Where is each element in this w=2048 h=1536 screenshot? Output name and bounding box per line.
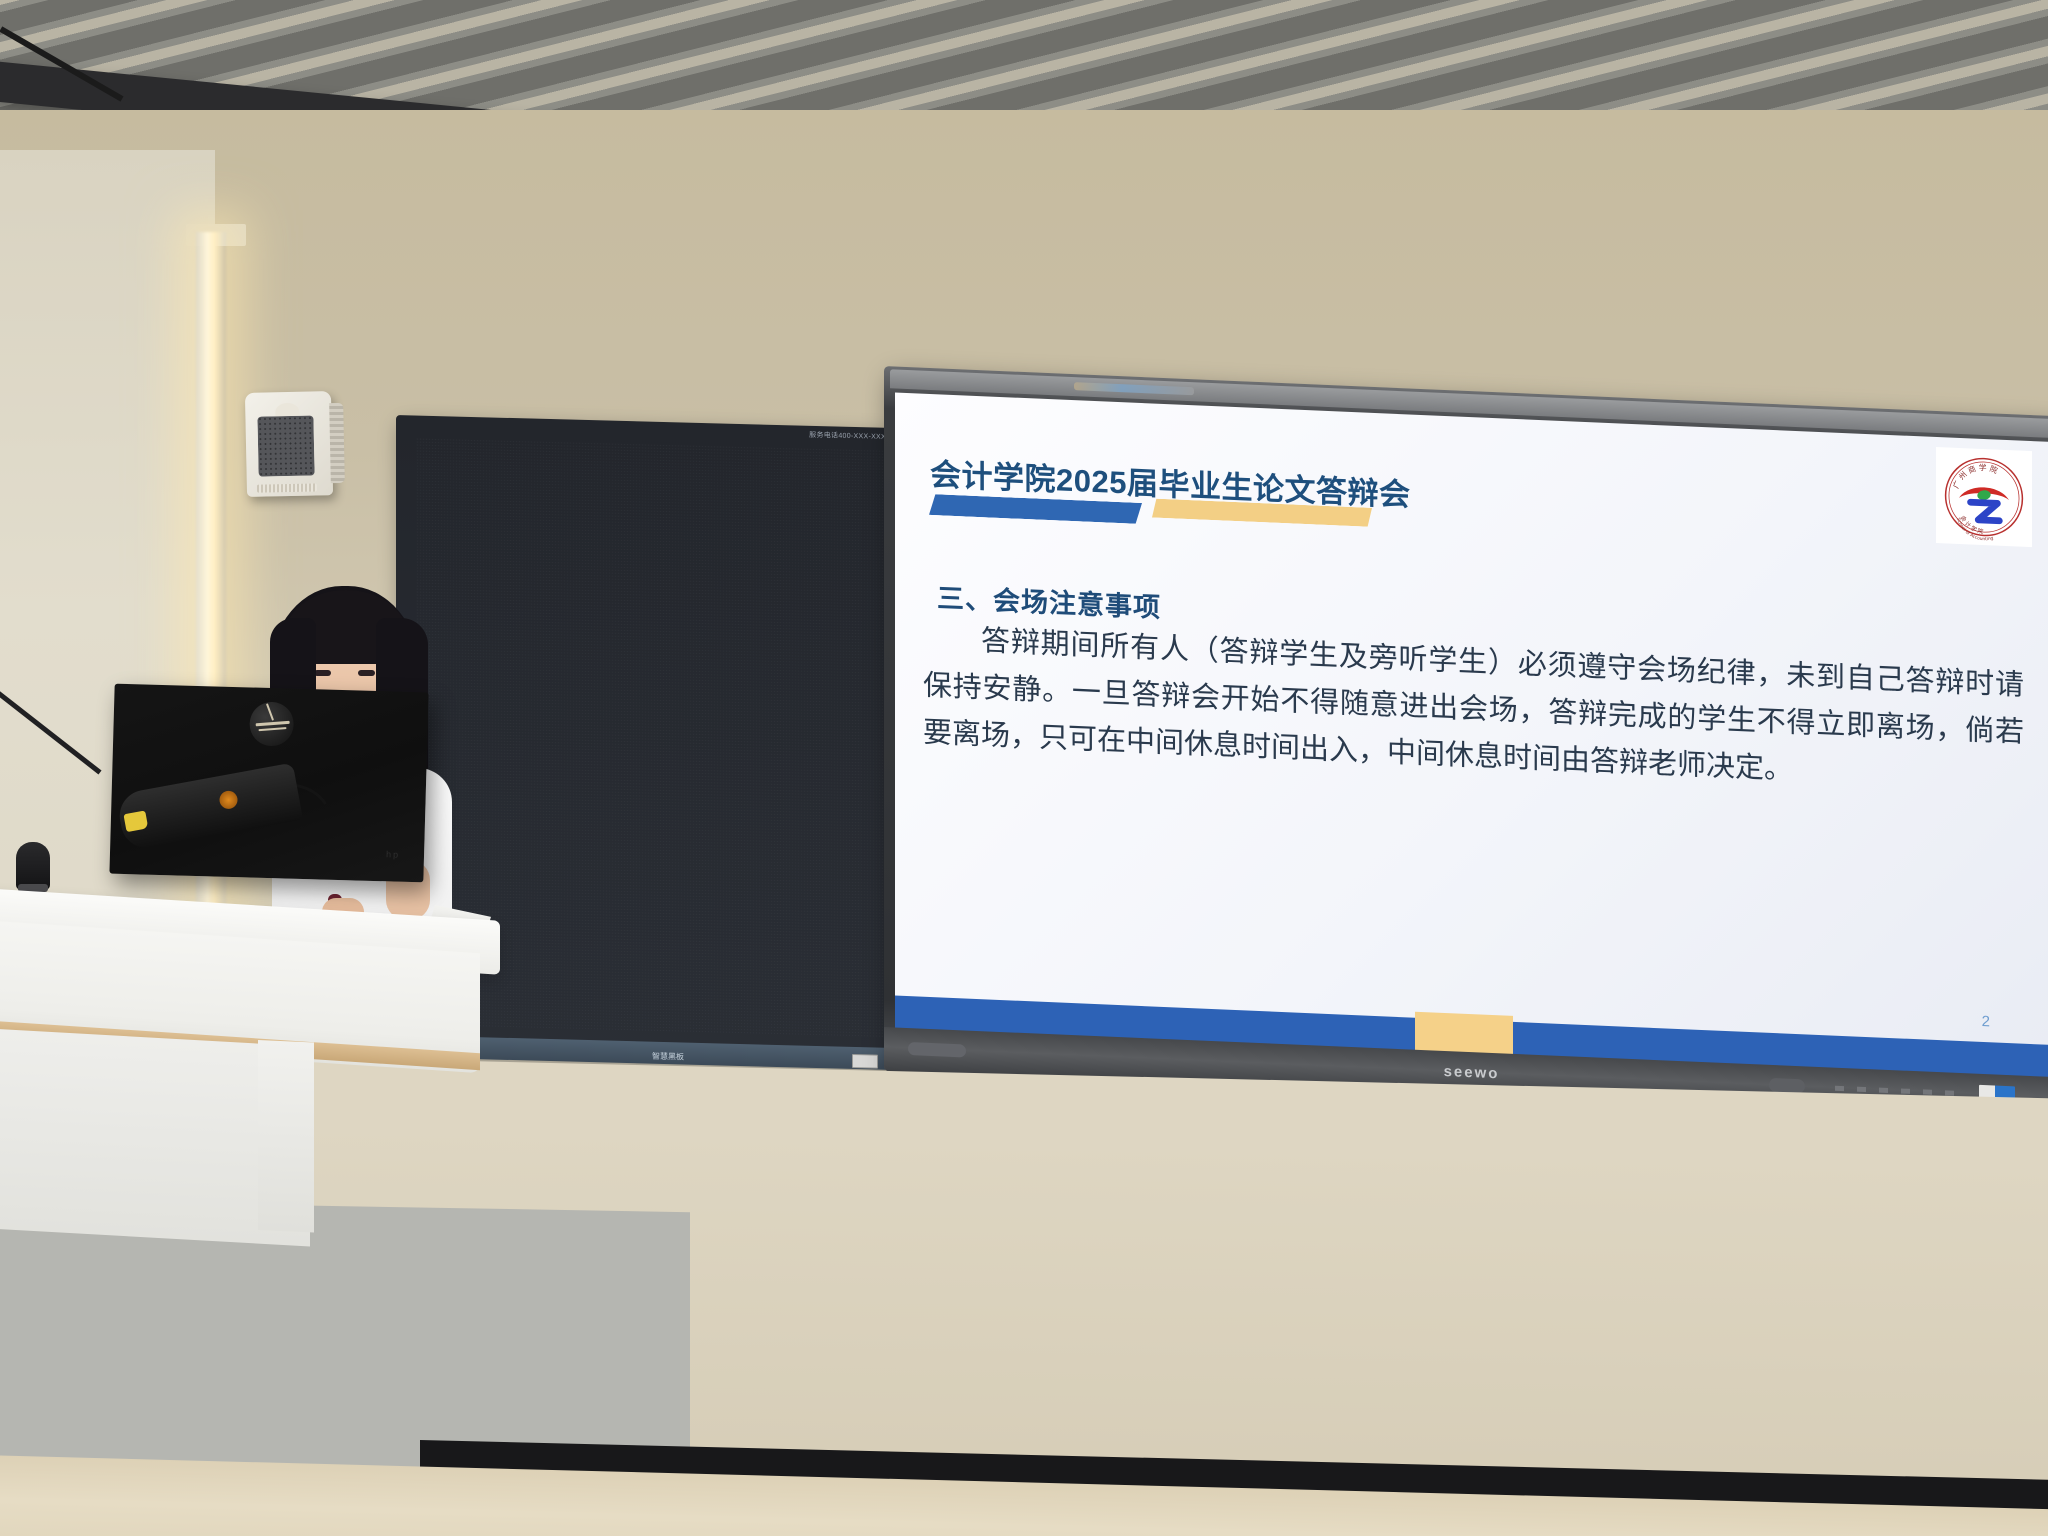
- presenter-eye-right: [358, 670, 375, 676]
- school-logo-icon: 广 州 商 学 院 会 计 学 院 School of Accounting: [1936, 447, 2032, 547]
- slide-page-number: 2: [1982, 1013, 1990, 1030]
- monitor-model-mark: hp: [386, 849, 400, 859]
- display-brand-label: seewo: [1444, 1063, 1500, 1082]
- lower-wall-panel-left: [0, 1200, 690, 1472]
- hp-monitor-rear: hp: [109, 684, 428, 883]
- speaker-side-vent: [329, 403, 345, 483]
- blackboard-bottom-sticker: [852, 1054, 878, 1069]
- display-ir-sensor: [908, 1042, 966, 1057]
- display-screen[interactable]: 会计学院2025届毕业生论文答辩会 广 州 商 学 院: [895, 392, 2048, 1078]
- presenter-eye-left: [314, 670, 331, 676]
- blackboard-service-label: 服务电话400-XXX-XXX: [809, 430, 886, 442]
- lecture-hall-scene: 服务电话400-XXX-XXX 智慧黑板 会计学院2025届毕业生论文答辩会: [0, 0, 2048, 1536]
- school-logo: 广 州 商 学 院 会 计 学 院 School of Accounting: [1936, 447, 2032, 547]
- interactive-smart-display[interactable]: 会计学院2025届毕业生论文答辩会 广 州 商 学 院: [884, 366, 2048, 1121]
- microphone[interactable]: [16, 842, 50, 890]
- scene-vignette: [1428, 0, 2048, 120]
- presentation-slide: 会计学院2025届毕业生论文答辩会 广 州 商 学 院: [895, 392, 2048, 1078]
- slide-body-text: 答辩期间所有人（答辩学生及旁听学生）必须遵守会场纪律，未到自己答辩时请保持安静。…: [923, 616, 2024, 804]
- hp-logo-icon: [249, 701, 294, 746]
- lectern-leg: [258, 1040, 314, 1233]
- slide-footer-bar-yellow: [1415, 1012, 1513, 1056]
- speaker-grille: [257, 415, 314, 476]
- wall-speaker: [245, 391, 333, 497]
- monitor-arm[interactable]: [116, 763, 304, 853]
- blackboard-brand-label: 智慧黑板: [652, 1051, 684, 1063]
- svg-text:广 州 商 学 院: 广 州 商 学 院: [1950, 461, 1999, 492]
- speaker-bottom-vent: [257, 483, 317, 492]
